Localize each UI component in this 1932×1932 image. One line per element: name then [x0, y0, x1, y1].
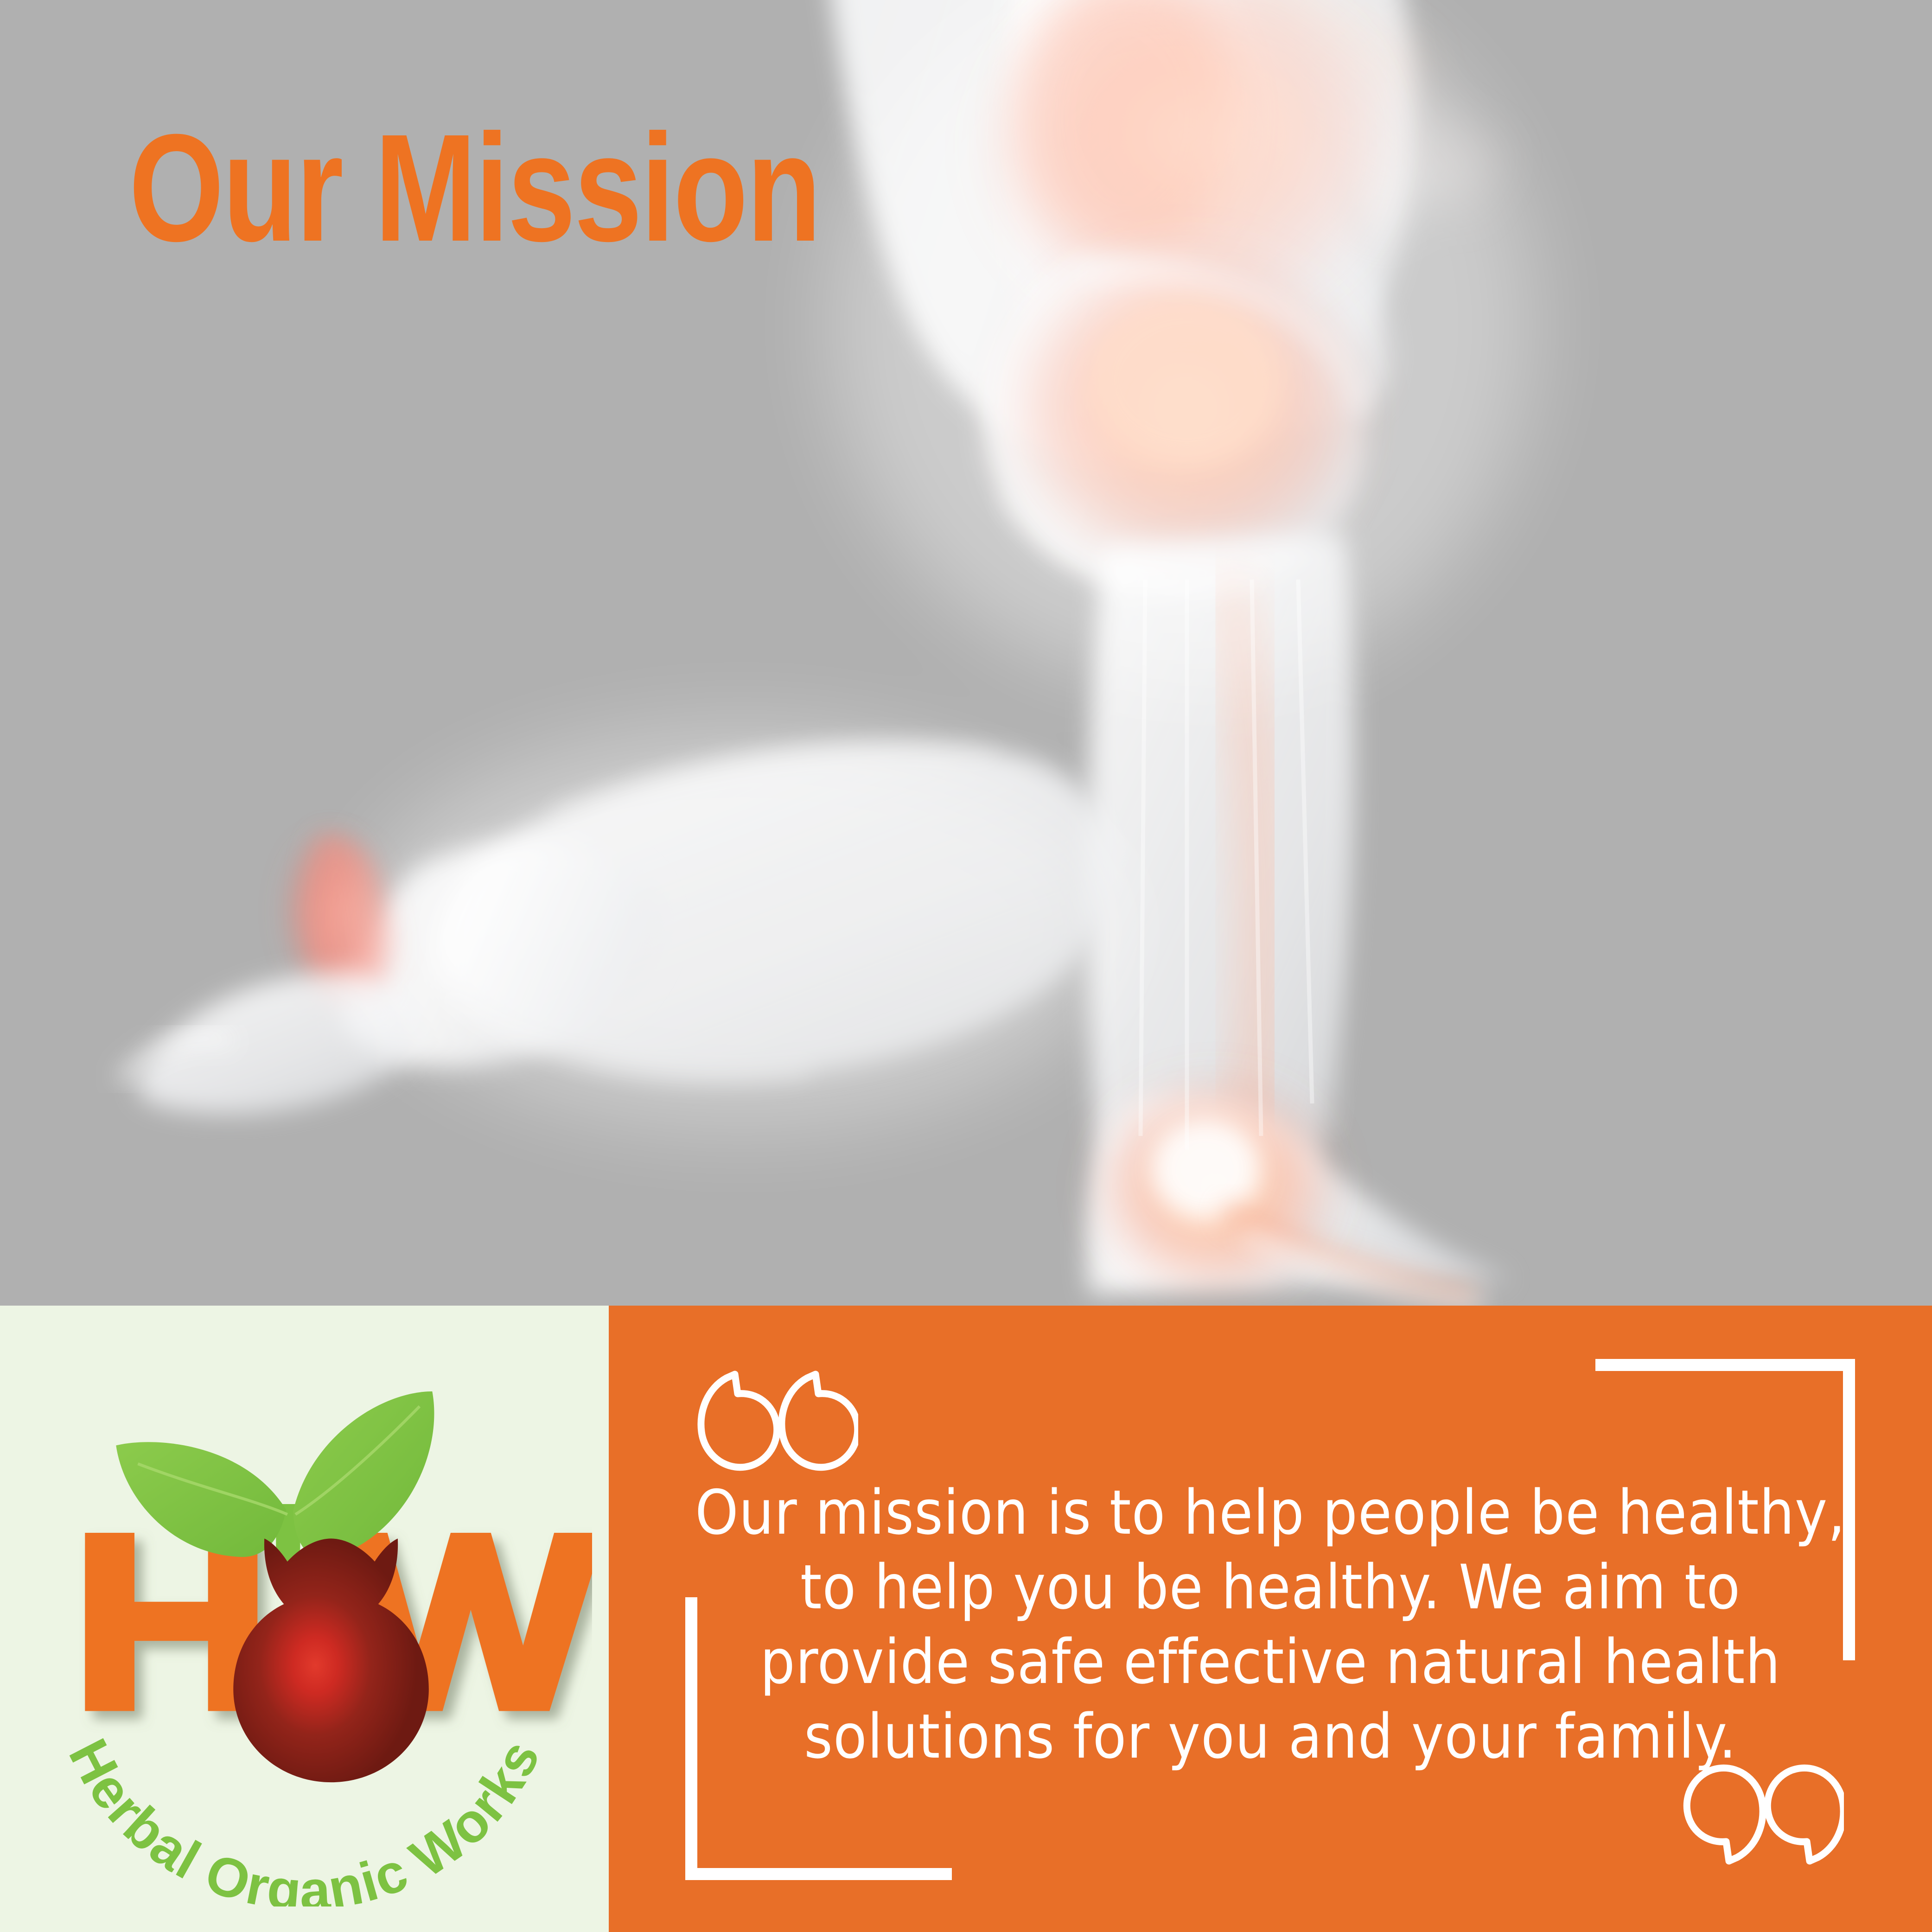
logo-bulb-icon — [233, 1538, 429, 1782]
double-close-quote-icon — [1672, 1758, 1844, 1874]
brand-logo[interactable]: Herbal Organic Works — [17, 1332, 592, 1906]
logo-panel: Herbal Organic Works — [0, 1306, 609, 1932]
hero-section: Our Mission — [0, 0, 1932, 1306]
logo-leaf-right — [293, 1391, 434, 1558]
logo-letter-h — [85, 1533, 257, 1711]
quote-panel: Our mission is to help people be healthy… — [609, 1306, 1932, 1932]
mission-poster: Our Mission — [0, 0, 1932, 1932]
logo-leaf-left — [116, 1442, 286, 1557]
bottom-band: Herbal Organic Works Our mission is to h… — [0, 1306, 1932, 1932]
mission-quote-text: Our mission is to help people be healthy… — [688, 1475, 1853, 1774]
double-open-quote-icon — [687, 1361, 858, 1477]
page-title: Our Mission — [129, 115, 820, 261]
